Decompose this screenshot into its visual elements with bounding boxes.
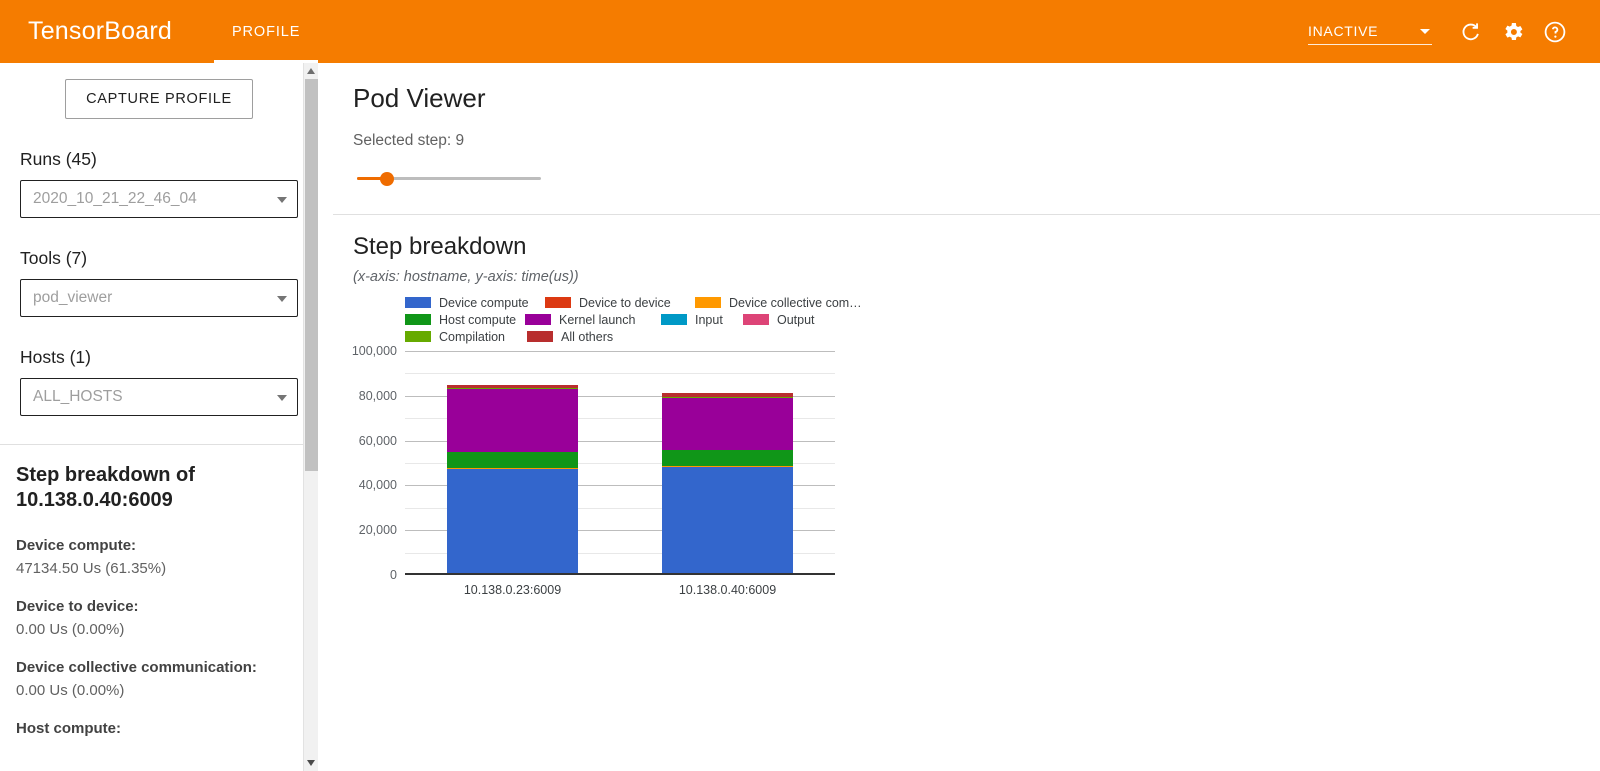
legend-item[interactable]: Output — [743, 312, 833, 327]
y-axis-tick-label: 20,000 — [359, 523, 397, 537]
reload-icon — [1460, 21, 1482, 43]
bar-segment[interactable] — [447, 388, 578, 389]
scroll-up-arrow-icon[interactable] — [307, 68, 315, 74]
bar-segment[interactable] — [447, 452, 578, 468]
app-body: CAPTURE PROFILE Runs (45) 2020_10_21_22_… — [0, 63, 1600, 771]
x-axis-tick-label: 10.138.0.23:6009 — [464, 583, 561, 597]
bar-segment[interactable] — [662, 393, 793, 397]
chevron-down-icon — [277, 197, 287, 203]
help-circle-icon — [1543, 20, 1567, 44]
legend-swatch — [545, 297, 571, 308]
scrollbar-thumb[interactable] — [305, 79, 318, 471]
bar-segment[interactable] — [662, 466, 793, 468]
legend-label: Input — [695, 313, 723, 327]
stat-key: Host compute: — [16, 718, 302, 741]
sidebar: CAPTURE PROFILE Runs (45) 2020_10_21_22_… — [0, 63, 318, 771]
legend-swatch — [527, 331, 553, 342]
y-axis-tick-label: 40,000 — [359, 478, 397, 492]
chart-plot-area: 020,00040,00060,00080,000100,00010.138.0… — [405, 351, 835, 575]
capture-profile-button[interactable]: CAPTURE PROFILE — [65, 79, 253, 119]
legend-item[interactable]: All others — [527, 329, 637, 344]
bar-segment[interactable] — [447, 468, 578, 470]
reload-button[interactable] — [1450, 11, 1492, 53]
legend-swatch — [525, 314, 551, 325]
status-dropdown[interactable]: INACTIVE — [1308, 18, 1432, 45]
settings-button[interactable] — [1492, 11, 1534, 53]
legend-item[interactable]: Kernel launch — [525, 312, 661, 327]
sidebar-selectors: Runs (45) 2020_10_21_22_46_04 Tools (7) … — [0, 149, 318, 416]
chevron-down-icon — [277, 395, 287, 401]
legend-swatch — [405, 297, 431, 308]
y-axis-tick-label: 60,000 — [359, 434, 397, 448]
sidebar-scrollbar[interactable] — [303, 63, 318, 771]
bar-segment[interactable] — [447, 385, 578, 388]
legend-swatch — [695, 297, 721, 308]
gear-icon — [1501, 20, 1525, 44]
stat-item: Device to device: 0.00 Us (0.00%) — [16, 596, 302, 641]
top-app-bar: TensorBoard PROFILE INACTIVE — [0, 0, 1600, 63]
capture-profile-row: CAPTURE PROFILE — [0, 63, 318, 119]
bar-segment[interactable] — [662, 450, 793, 466]
legend-item[interactable]: Device compute — [405, 295, 545, 310]
legend-swatch — [405, 331, 431, 342]
stat-value: 0.00 Us (0.00%) — [16, 680, 302, 703]
legend-label: Device collective com… — [729, 296, 862, 310]
stat-value: 0.00 Us (0.00%) — [16, 619, 302, 642]
tab-profile[interactable]: PROFILE — [214, 0, 318, 63]
legend-label: Host compute — [439, 313, 516, 327]
bar-segment[interactable] — [662, 398, 793, 450]
bar-stack[interactable] — [662, 349, 793, 573]
legend-swatch — [661, 314, 687, 325]
bar-segment[interactable] — [662, 467, 793, 573]
content-divider — [333, 214, 1600, 215]
hosts-label: Hosts (1) — [20, 347, 298, 368]
legend-label: Device compute — [439, 296, 529, 310]
legend-label: Device to device — [579, 296, 671, 310]
slider-thumb[interactable] — [380, 172, 394, 186]
x-axis-tick-label: 10.138.0.40:6009 — [679, 583, 776, 597]
legend-label: Compilation — [439, 330, 505, 344]
tools-select[interactable]: pod_viewer — [20, 279, 298, 317]
chevron-down-icon — [1420, 29, 1430, 34]
legend-label: Kernel launch — [559, 313, 635, 327]
app-brand: TensorBoard — [28, 17, 172, 46]
page-title: Pod Viewer — [353, 83, 1600, 114]
step-breakdown-chart: Device computeDevice to deviceDevice col… — [353, 295, 873, 585]
tools-label: Tools (7) — [20, 248, 298, 269]
stat-item: Device compute: 47134.50 Us (61.35%) — [16, 535, 302, 580]
top-bar-actions: INACTIVE — [1308, 11, 1600, 53]
stat-key: Device to device: — [16, 596, 302, 619]
nav-tabs: PROFILE — [214, 0, 318, 63]
help-button[interactable] — [1534, 11, 1576, 53]
y-axis-tick-label: 100,000 — [352, 344, 397, 358]
breakdown-title: Step breakdown of 10.138.0.40:6009 — [16, 463, 302, 513]
legend-swatch — [405, 314, 431, 325]
bar-segment[interactable] — [447, 469, 578, 573]
runs-value: 2020_10_21_22_46_04 — [33, 190, 197, 208]
sidebar-breakdown: Step breakdown of 10.138.0.40:6009 Devic… — [0, 445, 318, 741]
bar-segment[interactable] — [447, 389, 578, 452]
hosts-select[interactable]: ALL_HOSTS — [20, 378, 298, 416]
chart-legend: Device computeDevice to deviceDevice col… — [405, 295, 845, 346]
legend-label: All others — [561, 330, 613, 344]
stat-value: 47134.50 Us (61.35%) — [16, 558, 302, 581]
legend-item[interactable]: Compilation — [405, 329, 527, 344]
legend-item[interactable]: Device collective com… — [695, 295, 845, 310]
main-content: Pod Viewer Selected step: 9 Step breakdo… — [333, 63, 1600, 771]
stat-item: Host compute: — [16, 718, 302, 741]
stat-key: Device collective communication: — [16, 657, 302, 680]
chevron-down-icon — [277, 296, 287, 302]
stat-key: Device compute: — [16, 535, 302, 558]
selected-step-label: Selected step: 9 — [353, 132, 1600, 150]
status-value: INACTIVE — [1308, 23, 1378, 39]
bar-stack[interactable] — [447, 349, 578, 573]
legend-swatch — [743, 314, 769, 325]
legend-item[interactable]: Device to device — [545, 295, 695, 310]
legend-item[interactable]: Host compute — [405, 312, 525, 327]
tools-value: pod_viewer — [33, 289, 112, 307]
y-axis-tick-label: 80,000 — [359, 389, 397, 403]
bar-segment[interactable] — [662, 397, 793, 398]
runs-select[interactable]: 2020_10_21_22_46_04 — [20, 180, 298, 218]
y-axis-tick-label: 0 — [390, 568, 397, 582]
hosts-value: ALL_HOSTS — [33, 388, 123, 406]
tab-profile-label: PROFILE — [232, 24, 300, 40]
stat-item: Device collective communication: 0.00 Us… — [16, 657, 302, 702]
step-slider[interactable] — [357, 168, 541, 188]
chart-title: Step breakdown — [353, 233, 1600, 261]
chart-subtitle: (x-axis: hostname, y-axis: time(us)) — [353, 269, 1600, 285]
scroll-down-arrow-icon[interactable] — [307, 760, 315, 766]
legend-label: Output — [777, 313, 815, 327]
legend-item[interactable]: Input — [661, 312, 743, 327]
runs-label: Runs (45) — [20, 149, 298, 170]
